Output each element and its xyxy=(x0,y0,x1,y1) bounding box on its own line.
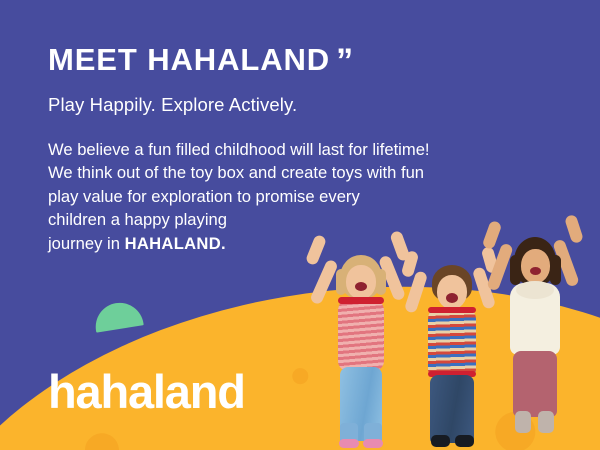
page-title: MEET HAHALAND” xyxy=(48,42,518,77)
quote-mark-icon: ” xyxy=(336,44,354,78)
body-line: play value for exploration to promise ev… xyxy=(48,185,508,209)
hahaland-promo-banner: MEET HAHALAND” Play Happily. Explore Act… xyxy=(0,0,600,450)
brand-emphasis: HAHALAND. xyxy=(125,234,226,253)
body-line: We believe a fun filled childhood will l… xyxy=(48,138,508,162)
body-line: children a happy playing xyxy=(48,208,508,232)
body-copy: We believe a fun filled childhood will l… xyxy=(48,138,508,256)
green-dome-icon xyxy=(92,299,143,332)
tagline: Play Happily. Explore Actively. xyxy=(48,94,518,116)
body-line: We think out of the toy box and create t… xyxy=(48,161,508,185)
hill-dot xyxy=(83,432,120,450)
body-line-final: journey in HAHALAND. xyxy=(48,232,508,256)
hahaland-logo: hahaland xyxy=(48,368,245,415)
body-line-prefix: journey in xyxy=(48,234,125,253)
headline-text: MEET HAHALAND xyxy=(48,42,330,77)
copy-block: MEET HAHALAND” Play Happily. Explore Act… xyxy=(48,42,518,255)
